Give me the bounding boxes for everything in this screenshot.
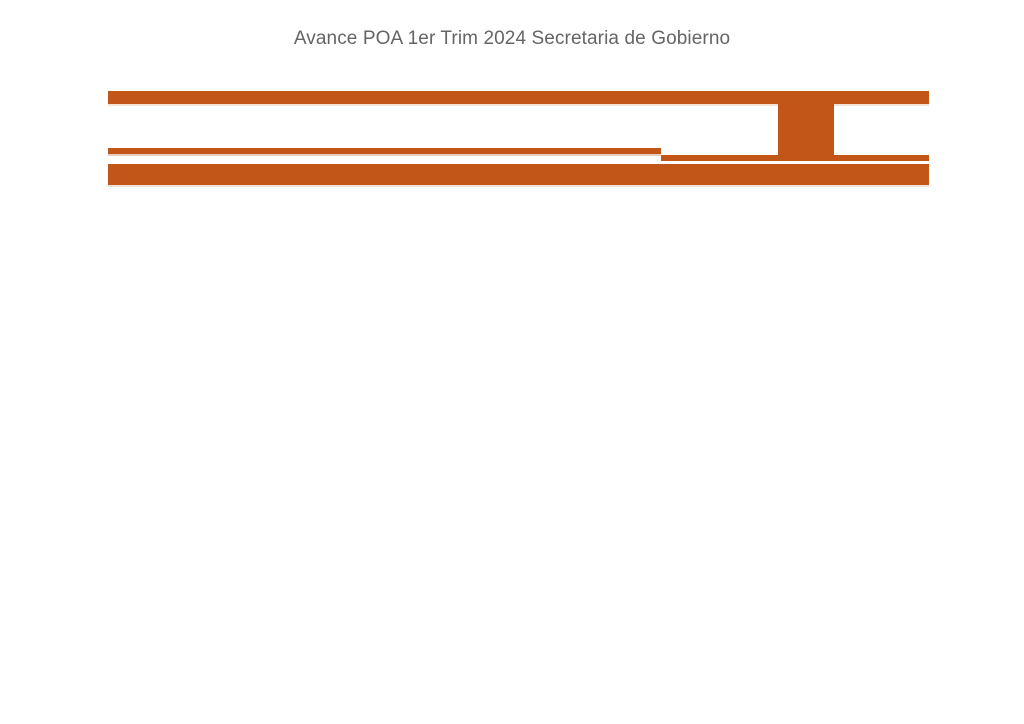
bar-1-segment-separator-3 (546, 104, 778, 106)
chart-container: Avance POA 1er Trim 2024 Secretaria de G… (0, 0, 1024, 724)
bar-1-segment-separator-2 (180, 104, 546, 106)
bar-1-segment-separator-4 (834, 104, 929, 106)
bar-3-segment-separator-4 (570, 185, 929, 187)
vertical-connector-bar[interactable] (778, 91, 834, 161)
bar-2-upper-segment-separator-2 (394, 154, 661, 156)
bar-3-segment-separator-1 (108, 185, 190, 187)
bar-3-segment-separator-3 (490, 185, 570, 187)
plot-area (0, 0, 1024, 724)
bar-row-2-lower[interactable] (661, 155, 929, 161)
bar-1-segment-separator-1 (108, 104, 180, 106)
bar-row-3[interactable] (108, 164, 929, 186)
bar-3-segment-separator-2 (190, 185, 490, 187)
bar-2-upper-segment-separator-1 (108, 154, 394, 156)
